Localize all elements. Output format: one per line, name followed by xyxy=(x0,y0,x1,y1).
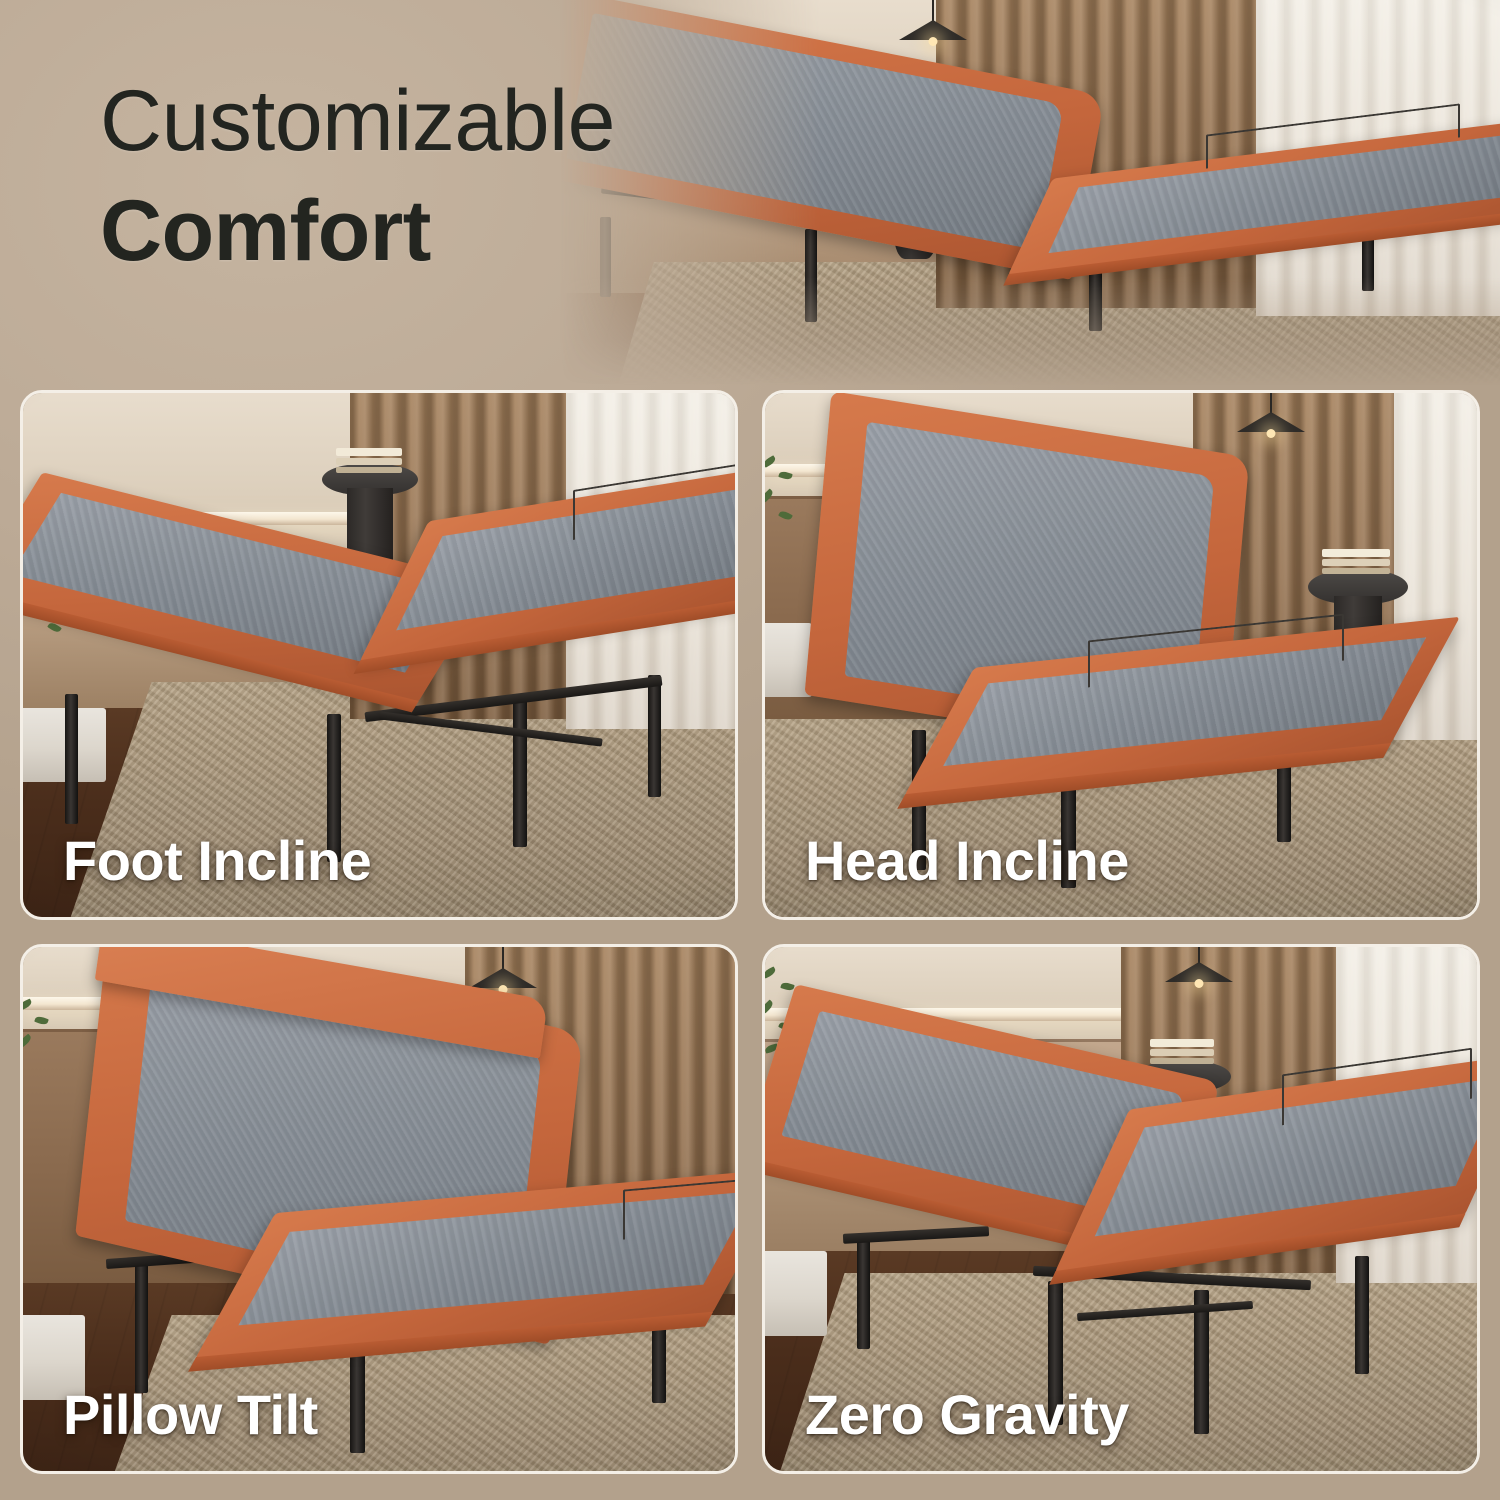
feature-panel-grid: Foot Incline xyxy=(20,390,1480,1480)
hero-image xyxy=(560,0,1500,385)
panel-foot-incline[interactable]: Foot Incline xyxy=(20,390,738,920)
page-title: Customizable Comfort xyxy=(100,78,615,274)
infographic-canvas: Customizable Comfort xyxy=(0,0,1500,1500)
hero-room-scene xyxy=(560,0,1500,385)
adjustable-bed-hero xyxy=(560,39,1500,347)
adjustable-bed-zero-gravity xyxy=(762,1018,1480,1442)
panel-zero-gravity[interactable]: Zero Gravity xyxy=(762,944,1480,1474)
panel-caption-pillow-tilt: Pillow Tilt xyxy=(63,1386,318,1445)
adjustable-bed-foot-incline xyxy=(20,496,738,878)
adjustable-bed-head-incline xyxy=(791,422,1466,888)
pendant-lamp-icon xyxy=(898,0,968,40)
headline-line-1: Customizable xyxy=(100,78,615,164)
books-stack xyxy=(336,448,402,475)
panel-caption-zero-gravity: Zero Gravity xyxy=(805,1386,1129,1445)
pendant-lamp-icon xyxy=(1164,944,1234,982)
panel-caption-foot-incline: Foot Incline xyxy=(63,832,371,891)
mattress-retainer-bar xyxy=(623,1178,738,1239)
panel-head-incline[interactable]: Head Incline xyxy=(762,390,1480,920)
panel-pillow-tilt[interactable]: Pillow Tilt xyxy=(20,944,738,1474)
headline-line-2: Comfort xyxy=(100,188,615,274)
panel-caption-head-incline: Head Incline xyxy=(805,832,1129,891)
bed-head-section xyxy=(560,0,1105,279)
adjustable-bed-pillow-tilt xyxy=(34,955,738,1453)
